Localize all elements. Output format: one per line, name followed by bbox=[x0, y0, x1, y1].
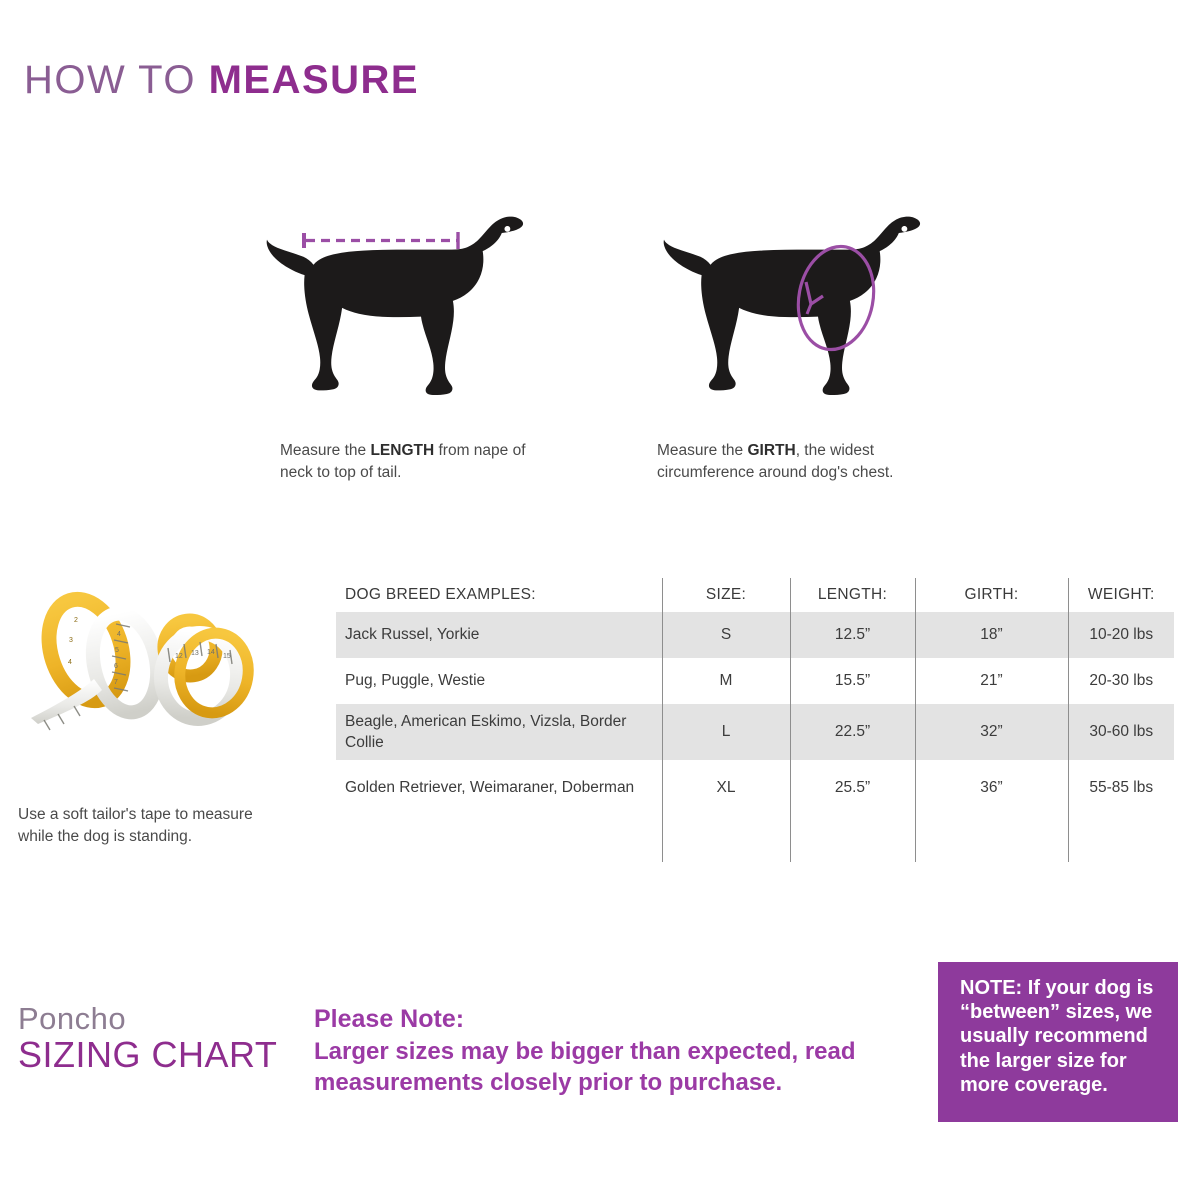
cell-length: 25.5” bbox=[790, 760, 915, 816]
column-header-weight: WEIGHT: bbox=[1068, 578, 1174, 612]
table-row: Beagle, American Eskimo, Vizsla, Border … bbox=[336, 704, 1174, 760]
dashed-length-line-icon bbox=[304, 232, 458, 249]
cell-size: XL bbox=[662, 760, 790, 816]
pad-cell bbox=[790, 816, 915, 862]
svg-text:2: 2 bbox=[74, 617, 78, 624]
column-header-breed: DOG BREED EXAMPLES: bbox=[336, 578, 662, 612]
length-caption: Measure the LENGTH from nape of neck to … bbox=[280, 440, 542, 484]
cell-breed: Beagle, American Eskimo, Vizsla, Border … bbox=[336, 704, 662, 760]
cell-weight: 10-20 lbs bbox=[1068, 612, 1174, 658]
brand-chart-label: SIZING CHART bbox=[18, 1035, 308, 1075]
svg-text:15: 15 bbox=[223, 653, 231, 660]
length-caption-bold: LENGTH bbox=[370, 442, 434, 459]
cell-size: M bbox=[662, 658, 790, 704]
girth-caption: Measure the GIRTH, the widest circumfere… bbox=[657, 440, 947, 484]
cell-breed: Golden Retriever, Weimaraner, Doberman bbox=[336, 760, 662, 816]
column-header-length: LENGTH: bbox=[790, 578, 915, 612]
page-title: HOW TO MEASURE bbox=[24, 58, 419, 103]
table-row: Pug, Puggle, Westie M 15.5” 21” 20-30 lb… bbox=[336, 658, 1174, 704]
svg-text:14: 14 bbox=[207, 649, 215, 656]
cell-girth: 18” bbox=[915, 612, 1068, 658]
svg-text:5: 5 bbox=[115, 647, 119, 654]
svg-text:4: 4 bbox=[117, 631, 121, 638]
table-header-row: DOG BREED EXAMPLES: SIZE: LENGTH: GIRTH:… bbox=[336, 578, 1174, 612]
svg-text:12: 12 bbox=[175, 653, 183, 660]
cell-girth: 36” bbox=[915, 760, 1068, 816]
table-bottom-pad-row bbox=[336, 816, 1174, 862]
tape-measure-block: 4 5 6 7 12 13 14 15 2 3 4 Use a soft tai… bbox=[18, 578, 298, 849]
svg-text:6: 6 bbox=[114, 663, 118, 670]
girth-caption-pre: Measure the bbox=[657, 442, 747, 459]
sizing-table: DOG BREED EXAMPLES: SIZE: LENGTH: GIRTH:… bbox=[336, 578, 1174, 862]
please-note-block: Please Note: Larger sizes may be bigger … bbox=[314, 1004, 914, 1098]
dog-silhouette-length-icon bbox=[258, 186, 538, 434]
svg-text:3: 3 bbox=[69, 637, 73, 644]
note-box-text: NOTE: If your dog is “between” sizes, we… bbox=[960, 976, 1166, 1097]
cell-length: 15.5” bbox=[790, 658, 915, 704]
sizing-chart-page: HOW TO MEASURE Measure the LENGTH from n… bbox=[0, 0, 1200, 1200]
length-caption-pre: Measure the bbox=[280, 442, 370, 459]
svg-text:13: 13 bbox=[191, 650, 199, 657]
table-row: Golden Retriever, Weimaraner, Doberman X… bbox=[336, 760, 1174, 816]
dog-silhouette-girth-icon bbox=[655, 186, 935, 434]
brand-block: Poncho SIZING CHART bbox=[18, 1002, 308, 1076]
page-title-bold: MEASURE bbox=[209, 58, 420, 102]
svg-text:4: 4 bbox=[68, 659, 72, 666]
cell-length: 22.5” bbox=[790, 704, 915, 760]
cell-breed: Pug, Puggle, Westie bbox=[336, 658, 662, 704]
cell-size: S bbox=[662, 612, 790, 658]
pad-cell bbox=[336, 816, 662, 862]
cell-length: 12.5” bbox=[790, 612, 915, 658]
length-diagram: Measure the LENGTH from nape of neck to … bbox=[258, 186, 558, 434]
note-box: NOTE: If your dog is “between” sizes, we… bbox=[938, 962, 1178, 1122]
cell-weight: 20-30 lbs bbox=[1068, 658, 1174, 704]
table-row: Jack Russel, Yorkie S 12.5” 18” 10-20 lb… bbox=[336, 612, 1174, 658]
brand-product-name: Poncho bbox=[18, 1002, 308, 1035]
cell-size: L bbox=[662, 704, 790, 760]
svg-text:7: 7 bbox=[114, 679, 118, 686]
girth-ellipse-icon bbox=[790, 240, 882, 356]
cell-weight: 55-85 lbs bbox=[1068, 760, 1174, 816]
cell-breed: Jack Russel, Yorkie bbox=[336, 612, 662, 658]
cell-weight: 30-60 lbs bbox=[1068, 704, 1174, 760]
tape-measure-caption: Use a soft tailor's tape to measure whil… bbox=[18, 804, 263, 849]
please-note-body: Larger sizes may be bigger than expected… bbox=[314, 1036, 914, 1098]
pad-cell bbox=[662, 816, 790, 862]
cell-girth: 21” bbox=[915, 658, 1068, 704]
pad-cell bbox=[1068, 816, 1174, 862]
page-title-light: HOW TO bbox=[24, 58, 209, 102]
cell-girth: 32” bbox=[915, 704, 1068, 760]
column-header-size: SIZE: bbox=[662, 578, 790, 612]
girth-diagram: Measure the GIRTH, the widest circumfere… bbox=[655, 186, 955, 434]
girth-caption-bold: GIRTH bbox=[747, 442, 795, 459]
column-header-girth: GIRTH: bbox=[915, 578, 1068, 612]
tape-measure-icon: 4 5 6 7 12 13 14 15 2 3 4 bbox=[18, 578, 288, 793]
pad-cell bbox=[915, 816, 1068, 862]
please-note-heading: Please Note: bbox=[314, 1004, 914, 1034]
